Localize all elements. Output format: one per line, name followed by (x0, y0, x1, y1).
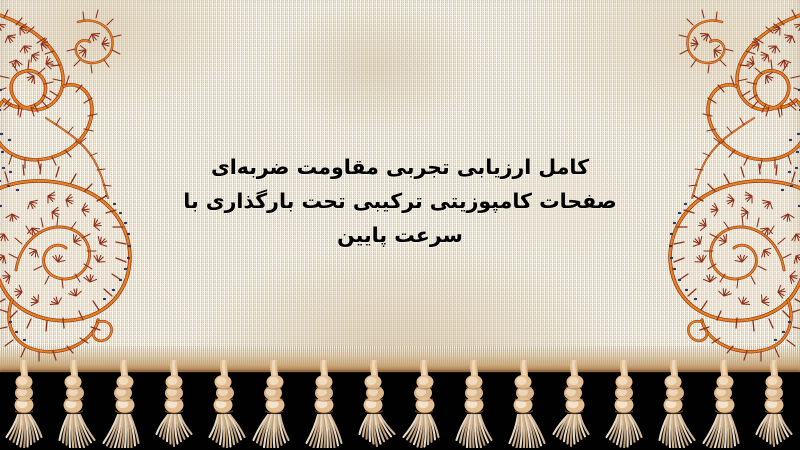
tassel (1, 360, 47, 448)
tassel (251, 360, 297, 448)
title-line-1: کامل ارزیابی تجربی مقاومت ضربه‌ای (150, 150, 650, 184)
tassel (751, 360, 797, 448)
tassel (501, 360, 547, 448)
title-card-canvas: کامل ارزیابی تجربی مقاومت ضربه‌ای صفحات … (0, 0, 800, 450)
tassel (601, 360, 647, 448)
tassel (51, 360, 97, 448)
knotted-tassel-fringe (0, 360, 800, 450)
tassel (701, 360, 747, 448)
tassel (651, 360, 697, 448)
page-title: کامل ارزیابی تجربی مقاومت ضربه‌ای صفحات … (150, 150, 650, 252)
tassel (351, 360, 397, 448)
tassel (101, 360, 147, 448)
tassel (301, 360, 347, 448)
tassel (201, 360, 247, 448)
title-line-3: سرعت پایین (150, 218, 650, 252)
title-line-2: صفحات کامپوزیتی ترکیبی تحت بارگذاری با (150, 184, 650, 218)
tassel (451, 360, 497, 448)
tassel (151, 360, 197, 448)
tassel (401, 360, 447, 448)
tassel (551, 360, 597, 448)
